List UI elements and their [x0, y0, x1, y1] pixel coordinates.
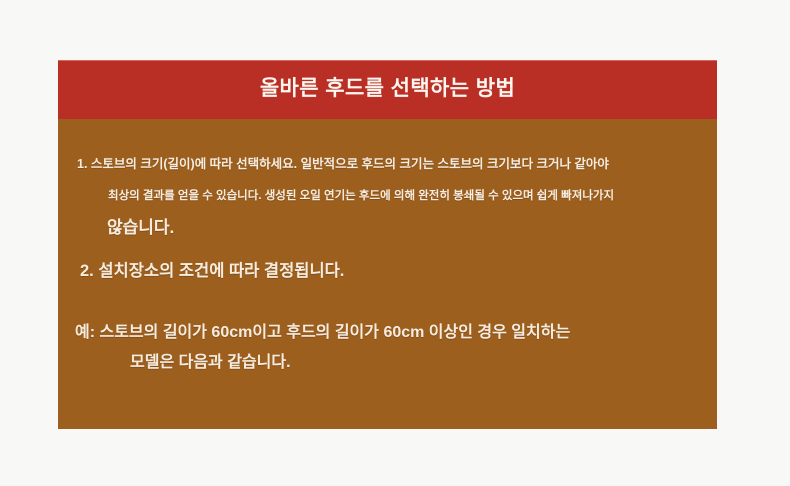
list-item-1-line-1: 1. 스토브의 크기(길이)에 따라 선택하세요. 일반적으로 후드의 크기는 … — [77, 156, 609, 173]
example-line-1: 예: 스토브의 길이가 60cm이고 후드의 길이가 60cm 이상인 경우 일… — [75, 321, 570, 344]
slide-panel: 올바른 후드를 선택하는 방법 1. 스토브의 크기(길이)에 따라 선택하세요… — [58, 60, 717, 429]
list-item-1-line-3: 않습니다. — [107, 216, 174, 240]
page-title: 올바른 후드를 선택하는 방법 — [58, 75, 717, 103]
list-item-1-line-2: 최상의 결과를 얻을 수 있습니다. 생성된 오일 연기는 후드에 의해 완전히… — [108, 188, 614, 204]
list-item-2-line-1: 2. 설치장소의 조건에 따라 결정됩니다. — [80, 259, 344, 283]
example-line-2: 모델은 다음과 같습니다. — [130, 351, 291, 374]
